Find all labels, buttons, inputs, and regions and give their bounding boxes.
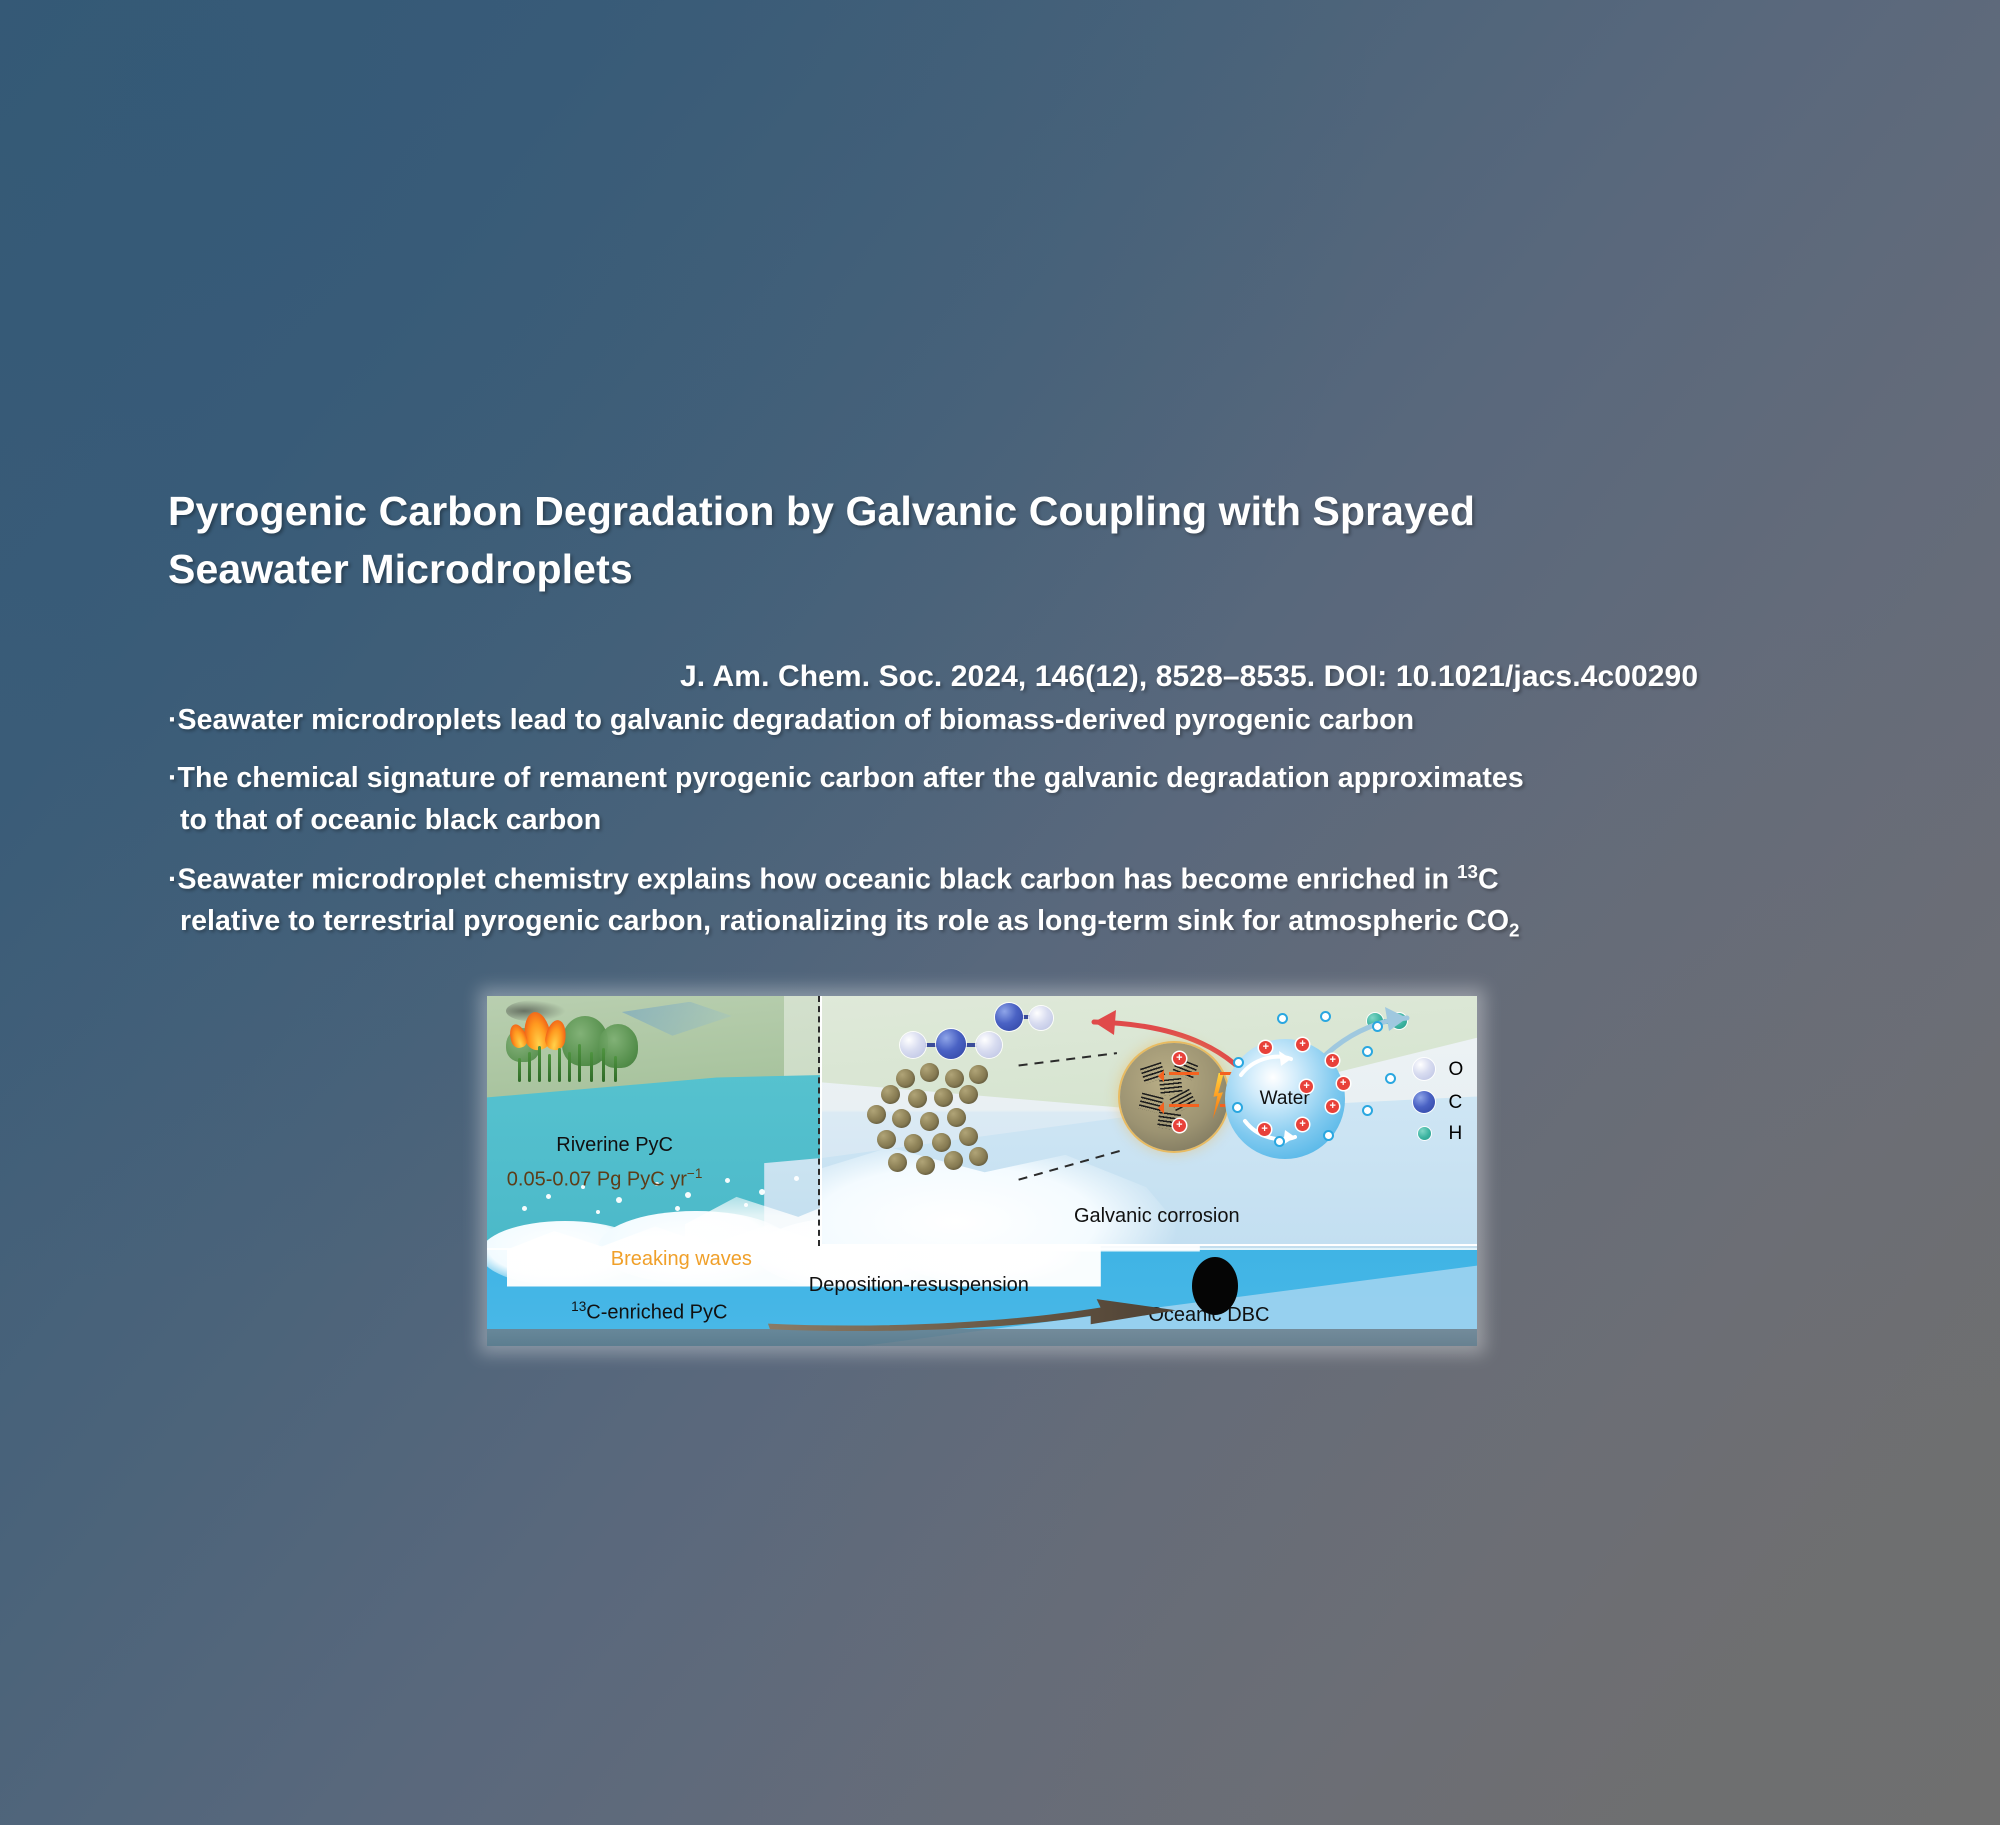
oceanic-dbc-particle-icon: [1192, 1257, 1238, 1315]
list-item: ·Seawater microdroplet chemistry explain…: [168, 858, 1928, 945]
legend-item-oxygen: O: [1413, 1058, 1463, 1080]
enriched-pyc-isotope: 13: [571, 1299, 586, 1314]
positive-charge-icon: +: [1259, 1041, 1272, 1054]
grass-icon: [538, 1046, 541, 1082]
smoke-plume-icon: [622, 1002, 732, 1036]
positive-charge-icon: +: [1337, 1077, 1350, 1090]
bullet-marker: ·: [168, 704, 178, 736]
page-title: Pyrogenic Carbon Degradation by Galvanic…: [168, 482, 1788, 598]
oxygen-atom-swatch: [1413, 1058, 1435, 1080]
highlights-list: ·Seawater microdroplets lead to galvanic…: [168, 700, 1928, 960]
bullet-marker: ·: [168, 762, 178, 794]
grass-icon: [548, 1054, 551, 1082]
bullet-1-text: Seawater microdroplets lead to galvanic …: [178, 704, 1415, 736]
spray-bubble: [685, 1192, 691, 1198]
magnified-inset-panel: + + Water + +: [820, 996, 1477, 1246]
list-item: ·The chemical signature of remanent pyro…: [168, 758, 1928, 842]
negative-ion-icon: [1372, 1021, 1383, 1032]
deposition-resuspension-arrow-icon: [764, 1290, 1180, 1332]
toc-graphic: + + Water + +: [487, 996, 1477, 1346]
spray-bubble: [616, 1197, 622, 1203]
bullet-3-text-b: C: [1478, 863, 1499, 895]
inset-leader-line: [818, 996, 820, 1246]
legend-item-carbon: C: [1413, 1091, 1463, 1113]
bullet-marker: ·: [168, 863, 178, 895]
electron-transfer-arrow-icon: [1169, 1104, 1199, 1107]
negative-ion-icon: [1320, 1011, 1331, 1022]
spray-bubble: [522, 1206, 527, 1211]
grass-icon: [602, 1048, 605, 1082]
legend-label-carbon: C: [1448, 1093, 1462, 1112]
hydrogen-atom-swatch: [1418, 1127, 1431, 1140]
grass-icon: [568, 1052, 571, 1082]
bullet-3-text-a: Seawater microdroplet chemistry explains…: [178, 863, 1457, 895]
carbon-atom-swatch: [1413, 1091, 1435, 1113]
galvanic-corrosion-label: Galvanic corrosion: [1074, 1205, 1240, 1228]
molecule-legend: O C H: [1413, 1058, 1463, 1143]
spray-bubble: [759, 1189, 765, 1195]
legend-item-hydrogen: H: [1413, 1124, 1463, 1143]
bullet-2-text: The chemical signature of remanent pyrog…: [178, 762, 1524, 794]
wildfire-scene: [502, 998, 759, 1082]
grass-icon: [578, 1044, 581, 1082]
grass-icon: [558, 1048, 561, 1082]
breaking-waves-label: Breaking waves: [611, 1248, 752, 1271]
negative-ion-icon: [1323, 1130, 1334, 1141]
bullet-3-text-c: relative to terrestrial pyrogenic carbon…: [180, 905, 1509, 937]
negative-ion-icon: [1362, 1046, 1373, 1057]
legend-label-hydrogen: H: [1448, 1124, 1462, 1143]
citation-line: J. Am. Chem. Soc. 2024, 146(12), 8528–85…: [680, 660, 1698, 694]
enriched-pyc-text: C-enriched PyC: [586, 1301, 727, 1323]
positive-charge-icon: +: [1296, 1118, 1309, 1131]
riverine-flux-exponent: −1: [687, 1166, 703, 1181]
spray-bubble: [744, 1203, 748, 1207]
bullet-3-co2-subscript: 2: [1509, 920, 1520, 941]
electron-transfer-arrow-icon: [1169, 1072, 1199, 1075]
grass-icon: [528, 1052, 531, 1082]
spray-bubble: [596, 1210, 600, 1214]
negative-ion-icon: [1274, 1136, 1285, 1147]
bullet-3-isotope: 13: [1457, 861, 1478, 882]
positive-charge-icon: +: [1173, 1119, 1186, 1132]
legend-label-oxygen: O: [1448, 1060, 1463, 1079]
riverine-pyc-label: Riverine PyC: [556, 1134, 673, 1157]
toc-graphic-canvas: + + Water + +: [487, 996, 1477, 1346]
riverine-flux-value: 0.05-0.07 Pg PyC yr: [507, 1169, 687, 1191]
bullet-3-text-cont: relative to terrestrial pyrogenic carbon…: [168, 901, 1928, 944]
list-item: ·Seawater microdroplets lead to galvanic…: [168, 700, 1928, 742]
spray-bubble: [725, 1178, 730, 1183]
enriched-pyc-label: 13C-enriched PyC: [571, 1299, 727, 1325]
positive-charge-icon: +: [1258, 1123, 1271, 1136]
negative-ion-icon: [1233, 1057, 1244, 1068]
grass-icon: [518, 1058, 521, 1082]
title-line-2: Seawater Microdroplets: [168, 540, 1788, 598]
bullet-2-text-cont: to that of oceanic black carbon: [168, 800, 1928, 842]
title-line-1: Pyrogenic Carbon Degradation by Galvanic…: [168, 482, 1788, 540]
riverine-flux-label: 0.05-0.07 Pg PyC yr−1: [507, 1166, 703, 1192]
grass-icon: [614, 1056, 617, 1082]
positive-charge-icon: +: [1173, 1052, 1186, 1065]
grass-icon: [590, 1052, 593, 1082]
slide-canvas: Pyrogenic Carbon Degradation by Galvanic…: [0, 0, 2000, 1825]
negative-ion-icon: [1232, 1102, 1243, 1113]
